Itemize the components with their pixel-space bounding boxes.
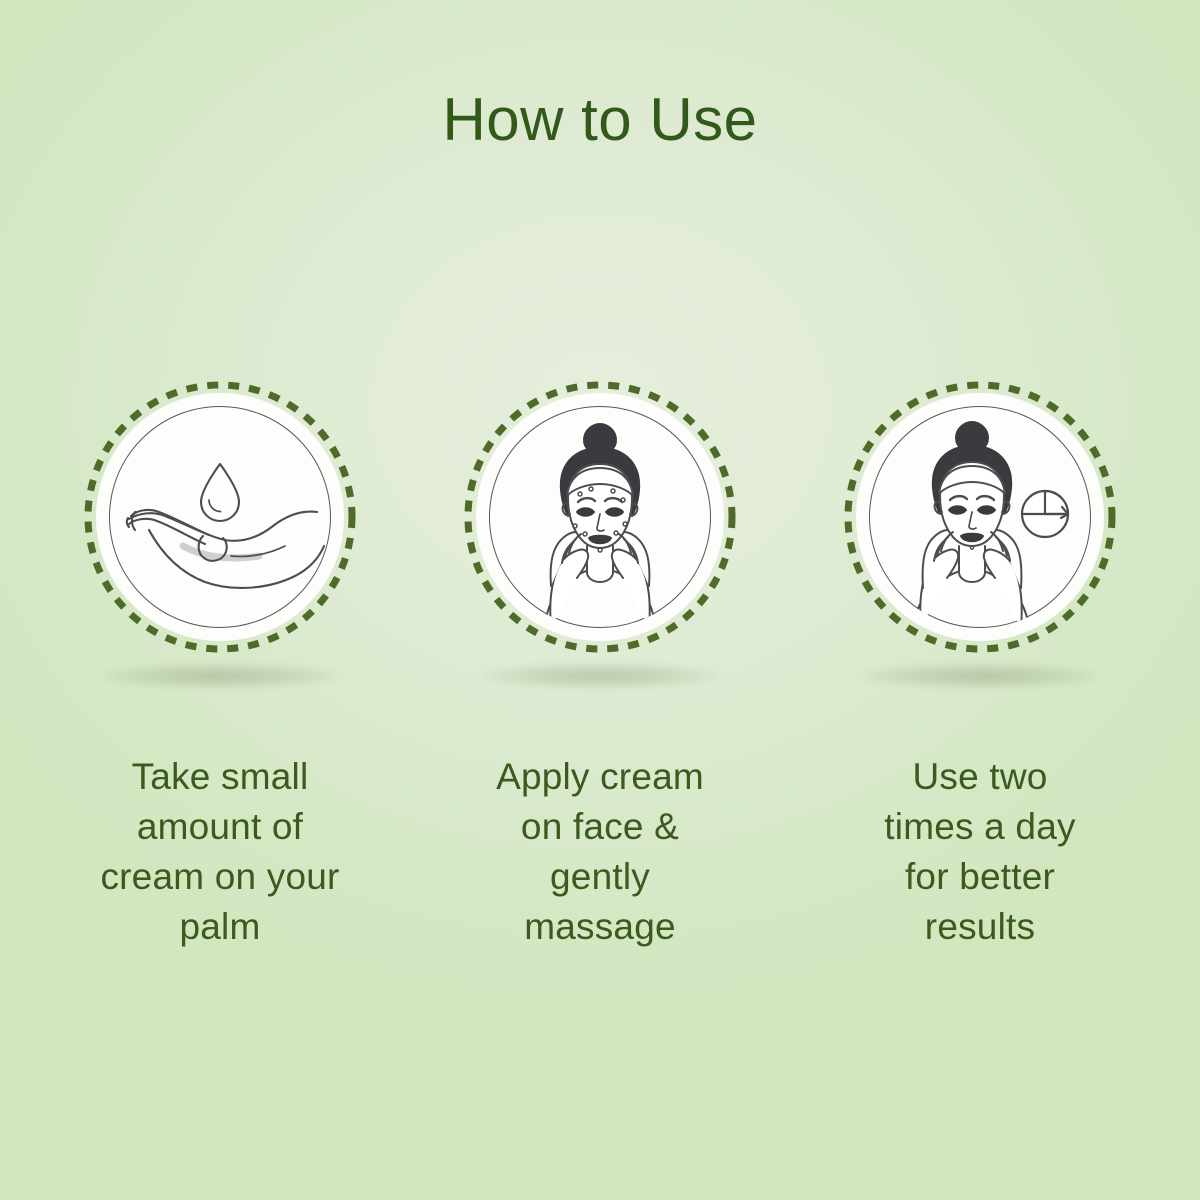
step-2-drop-shadow [482, 663, 718, 689]
step-3-badge-wrap [840, 380, 1120, 680]
step-1-badge-wrap [80, 380, 360, 680]
step-2-badge [463, 380, 737, 654]
step-3-caption: Use two times a day for better results [815, 752, 1145, 952]
step-2: Apply cream on face & gently massage [410, 380, 790, 952]
hand-with-cream-drop-icon [109, 406, 331, 628]
step-1-caption-line-1: Take small [55, 752, 385, 802]
step-2-caption-line-4: massage [435, 902, 765, 952]
page-title: How to Use [0, 84, 1200, 156]
step-2-caption-line-2: on face & [435, 802, 765, 852]
step-2-badge-wrap [460, 380, 740, 680]
step-3: Use two times a day for better results [790, 380, 1170, 952]
step-3-caption-line-2: times a day [815, 802, 1145, 852]
step-2-caption-line-3: gently [435, 852, 765, 902]
step-3-badge [843, 380, 1117, 654]
step-1-drop-shadow [102, 663, 338, 689]
step-2-caption: Apply cream on face & gently massage [435, 752, 765, 952]
step-3-caption-line-4: results [815, 902, 1145, 952]
step-2-caption-line-1: Apply cream [435, 752, 765, 802]
step-1-caption-line-3: cream on your [55, 852, 385, 902]
step-1-caption: Take small amount of cream on your palm [55, 752, 385, 952]
step-1-caption-line-2: amount of [55, 802, 385, 852]
how-to-use-infographic: How to Use [0, 0, 1200, 1200]
step-3-caption-line-3: for better [815, 852, 1145, 902]
woman-massaging-face-with-clock-icon [869, 406, 1091, 628]
step-3-drop-shadow [862, 663, 1098, 689]
step-3-caption-line-1: Use two [815, 752, 1145, 802]
woman-applying-cream-to-face-icon [489, 406, 711, 628]
step-1-badge [83, 380, 357, 654]
step-1: Take small amount of cream on your palm [30, 380, 410, 952]
step-1-caption-line-4: palm [55, 902, 385, 952]
steps-row: Take small amount of cream on your palm [0, 380, 1200, 952]
